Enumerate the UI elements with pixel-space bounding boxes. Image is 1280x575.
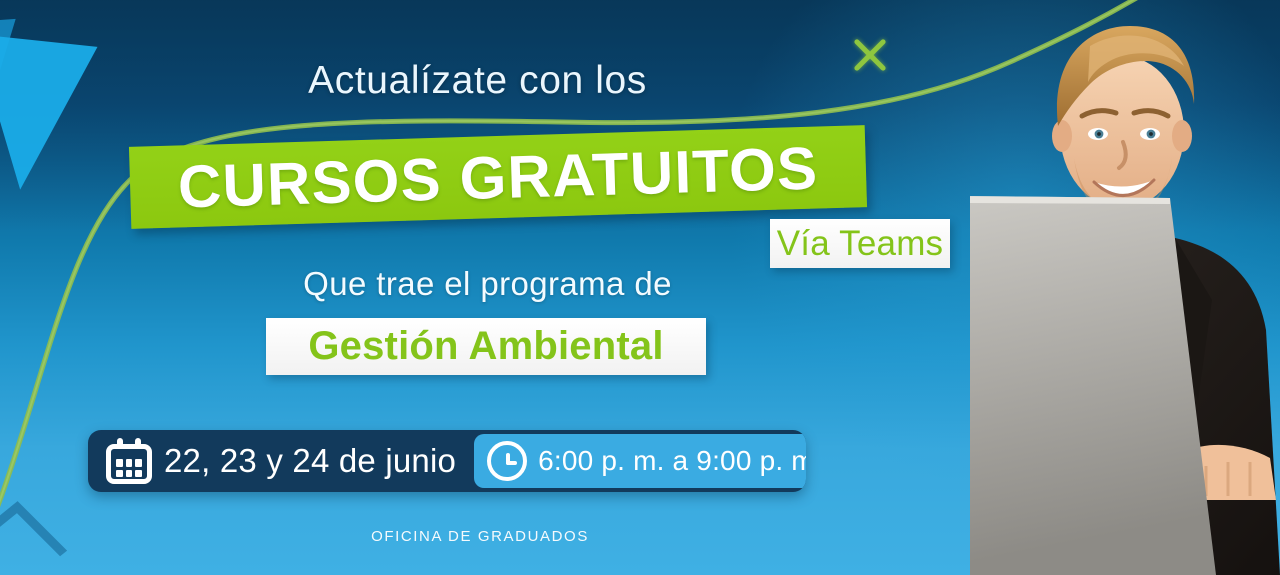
event-date-label: 22, 23 y 24 de junio (164, 442, 456, 480)
banner-subtitle: Que trae el programa de (0, 265, 975, 303)
banner-pretitle: Actualízate con los (0, 59, 955, 103)
event-time-label: 6:00 p. m. a 9:00 p. m. (538, 445, 806, 477)
person-photo (970, 0, 1280, 575)
platform-chip: Vía Teams (770, 219, 950, 268)
calendar-icon (106, 438, 152, 484)
program-chip-label: Gestión Ambiental (308, 324, 663, 369)
platform-chip-label: Vía Teams (777, 224, 944, 264)
clock-icon (487, 441, 527, 481)
promo-banner: Actualízate con los CURSOS GRATUITOS Vía… (0, 0, 1280, 575)
event-time-group: 6:00 p. m. a 9:00 p. m. (474, 434, 806, 488)
event-date-group: 22, 23 y 24 de junio (88, 430, 474, 492)
event-info-bar: 22, 23 y 24 de junio 6:00 p. m. a 9:00 p… (88, 430, 806, 492)
program-chip: Gestión Ambiental (266, 318, 706, 375)
organizer-label: OFICINA DE GRADUADOS (0, 528, 960, 545)
